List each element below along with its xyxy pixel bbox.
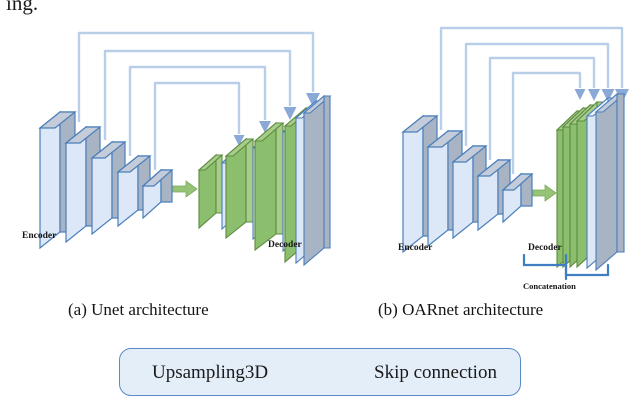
- unet-decoder-label: Decoder: [268, 240, 302, 250]
- skip-arrow-3: [588, 89, 600, 101]
- unet-encoder-label: Encoder: [22, 231, 56, 241]
- panel-oarnet: [403, 28, 629, 279]
- legend-label-upsampling3d: Upsampling3D: [152, 362, 268, 384]
- oarnet-decoder: [557, 94, 624, 270]
- legend-label-skip-connection: Skip connection: [374, 362, 497, 384]
- oarnet-decoder-label: Decoder: [528, 243, 562, 253]
- skip-path-1: [79, 33, 313, 122]
- oarnet-upsample-arrow: [533, 185, 556, 201]
- caption-panel-a: (a) Unet architecture: [68, 300, 209, 320]
- caption-panel-b: (b) OARnet architecture: [378, 300, 543, 320]
- skip-arrow-4: [575, 89, 586, 100]
- cut-off-text-fragment: ing.: [6, 0, 38, 16]
- concatenation-label: Concatenation: [523, 281, 576, 291]
- unet-upsample-arrow: [173, 181, 197, 197]
- panel-unet: [40, 33, 330, 265]
- oarnet-encoder-label: Encoder: [398, 243, 432, 253]
- decoder-output-block: [587, 94, 624, 270]
